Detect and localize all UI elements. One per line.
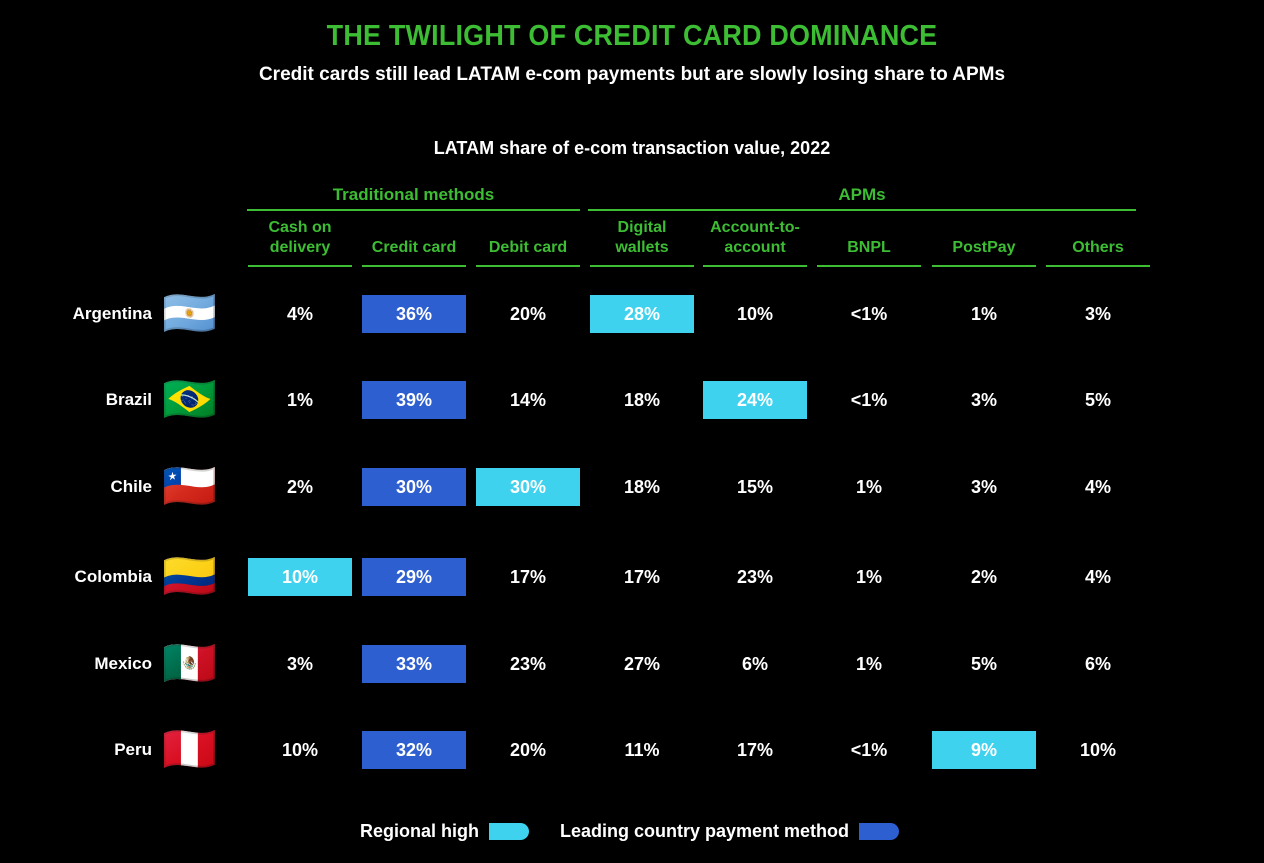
column-header-line1: BNPL <box>817 238 921 258</box>
flag-icon: 🇲🇽 <box>162 642 217 686</box>
column-header-others: Others <box>1046 238 1150 258</box>
group-rule-traditional <box>247 209 580 211</box>
column-header-postpay: PostPay <box>932 238 1036 258</box>
value-cell: 17% <box>476 558 580 596</box>
table-row: Peru🇵🇪10%32%20%11%17%<1%9%10% <box>0 707 1264 793</box>
value-cell: 1% <box>248 381 352 419</box>
country-label: Peru <box>0 740 152 760</box>
value-cell: 32% <box>362 731 466 769</box>
flag-icon: 🇨🇴 <box>162 555 217 599</box>
value-cell: 39% <box>362 381 466 419</box>
value-cell: 9% <box>932 731 1036 769</box>
value-cell: 1% <box>817 468 921 506</box>
value-cell: 4% <box>1046 558 1150 596</box>
table-row: Chile🇨🇱2%30%30%18%15%1%3%4% <box>0 444 1264 530</box>
column-rule-bnpl <box>817 265 921 267</box>
value-cell: 3% <box>248 645 352 683</box>
table-row: Brazil🇧🇷1%39%14%18%24%<1%3%5% <box>0 357 1264 443</box>
country-label: Chile <box>0 477 152 497</box>
column-rule-account-to-account <box>703 265 807 267</box>
value-cell: 23% <box>476 645 580 683</box>
value-cell: 10% <box>248 558 352 596</box>
value-cell: 3% <box>932 468 1036 506</box>
page-subtitle: Credit cards still lead LATAM e-com paym… <box>0 64 1264 86</box>
column-rule-postpay <box>932 265 1036 267</box>
table-row: Argentina🇦🇷4%36%20%28%10%<1%1%3% <box>0 271 1264 357</box>
country-label: Mexico <box>0 654 152 674</box>
country-label: Brazil <box>0 390 152 410</box>
column-header-bnpl: BNPL <box>817 238 921 258</box>
value-cell: 24% <box>703 381 807 419</box>
country-label: Colombia <box>0 567 152 587</box>
value-cell: 28% <box>590 295 694 333</box>
value-cell: <1% <box>817 381 921 419</box>
value-cell: 3% <box>1046 295 1150 333</box>
value-cell: 2% <box>248 468 352 506</box>
flag-icon: 🇵🇪 <box>162 728 217 772</box>
value-cell: 27% <box>590 645 694 683</box>
column-header-debit-card: Debit card <box>476 238 580 258</box>
column-rule-others <box>1046 265 1150 267</box>
column-header-account-to-account: Account-to- account <box>699 218 811 258</box>
value-cell: 30% <box>362 468 466 506</box>
value-cell: 1% <box>932 295 1036 333</box>
group-header-apms: APMs <box>588 185 1136 205</box>
legend-item-regional-high: Regional high <box>360 815 529 847</box>
value-cell: 10% <box>703 295 807 333</box>
value-cell: 4% <box>248 295 352 333</box>
value-cell: 30% <box>476 468 580 506</box>
group-header-traditional: Traditional methods <box>247 185 580 205</box>
column-rule-digital-wallets <box>590 265 694 267</box>
legend-label-leading-method: Leading country payment method <box>560 821 849 842</box>
value-cell: 5% <box>932 645 1036 683</box>
column-header-line2: account <box>699 238 811 258</box>
legend-item-leading-method: Leading country payment method <box>560 815 899 847</box>
value-cell: 14% <box>476 381 580 419</box>
value-cell: 18% <box>590 468 694 506</box>
value-cell: 29% <box>362 558 466 596</box>
value-cell: 17% <box>703 731 807 769</box>
flag-icon: 🇧🇷 <box>162 378 217 422</box>
column-header-digital-wallets: Digital wallets <box>590 218 694 258</box>
table-row: Colombia🇨🇴10%29%17%17%23%1%2%4% <box>0 534 1264 620</box>
value-cell: 10% <box>248 731 352 769</box>
value-cell: 20% <box>476 731 580 769</box>
group-rule-apms <box>588 209 1136 211</box>
value-cell: 6% <box>1046 645 1150 683</box>
value-cell: 18% <box>590 381 694 419</box>
column-rule-debit-card <box>476 265 580 267</box>
value-cell: 11% <box>590 731 694 769</box>
value-cell: <1% <box>817 295 921 333</box>
column-header-cash-on-delivery: Cash on delivery <box>248 218 352 258</box>
value-cell: 3% <box>932 381 1036 419</box>
column-header-credit-card: Credit card <box>362 238 466 258</box>
page-title: THE TWILIGHT OF CREDIT CARD DOMINANCE <box>44 20 1220 53</box>
value-cell: 10% <box>1046 731 1150 769</box>
flag-icon: 🇨🇱 <box>162 465 217 509</box>
value-cell: 36% <box>362 295 466 333</box>
infographic-page: THE TWILIGHT OF CREDIT CARD DOMINANCE Cr… <box>0 0 1264 863</box>
legend-swatch-regional-high <box>489 823 529 840</box>
value-cell: 1% <box>817 558 921 596</box>
value-cell: 17% <box>590 558 694 596</box>
chart-title: LATAM share of e-com transaction value, … <box>0 138 1264 159</box>
legend-swatch-leading-method <box>859 823 899 840</box>
value-cell: 15% <box>703 468 807 506</box>
legend: Regional high Leading country payment me… <box>0 815 1264 847</box>
flag-icon: 🇦🇷 <box>162 292 217 336</box>
column-header-line1: Others <box>1046 238 1150 258</box>
column-header-line1: PostPay <box>932 238 1036 258</box>
column-header-line1: Digital <box>590 218 694 238</box>
country-label: Argentina <box>0 304 152 324</box>
column-rule-credit-card <box>362 265 466 267</box>
column-header-line1: Credit card <box>362 238 466 258</box>
legend-label-regional-high: Regional high <box>360 821 479 842</box>
value-cell: 20% <box>476 295 580 333</box>
value-cell: 5% <box>1046 381 1150 419</box>
value-cell: 2% <box>932 558 1036 596</box>
column-header-line1: Debit card <box>476 238 580 258</box>
value-cell: 33% <box>362 645 466 683</box>
column-header-line2: wallets <box>590 238 694 258</box>
column-header-line1: Cash on <box>248 218 352 238</box>
column-header-line2: delivery <box>248 238 352 258</box>
column-rule-cash-on-delivery <box>248 265 352 267</box>
value-cell: <1% <box>817 731 921 769</box>
value-cell: 1% <box>817 645 921 683</box>
value-cell: 6% <box>703 645 807 683</box>
value-cell: 4% <box>1046 468 1150 506</box>
table-row: Mexico🇲🇽3%33%23%27%6%1%5%6% <box>0 621 1264 707</box>
value-cell: 23% <box>703 558 807 596</box>
column-header-line1: Account-to- <box>699 218 811 238</box>
